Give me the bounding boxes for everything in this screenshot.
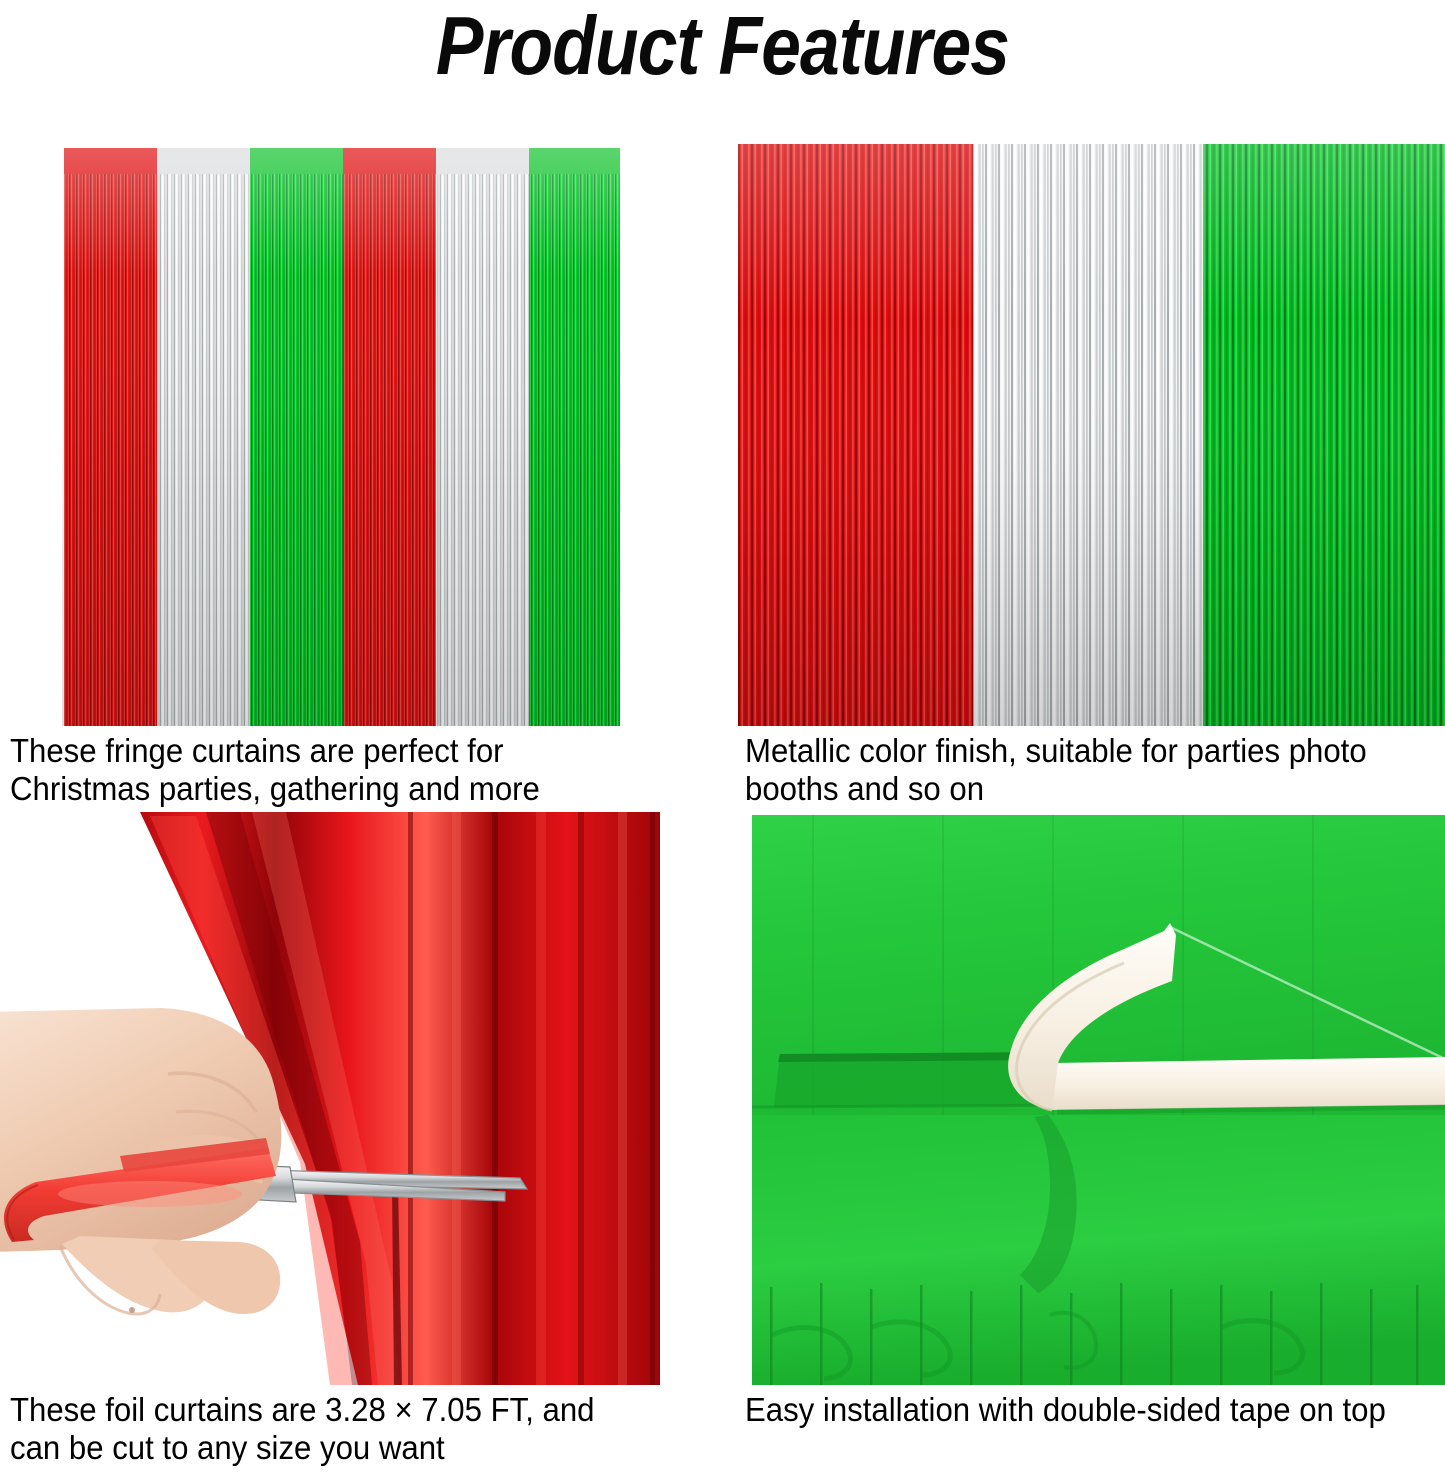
feature-caption: These fringe curtains are perfect for Ch…	[10, 733, 587, 809]
metallic-curtain-photo	[738, 144, 1445, 726]
scissors-cutting-illustration	[0, 812, 660, 1385]
feature-caption: Metallic color finish, suitable for part…	[745, 733, 1405, 809]
tape-installation-illustration	[752, 815, 1445, 1385]
metallic-curtain-illustration	[738, 144, 1445, 726]
page-title: Product Features	[101, 2, 1344, 89]
scissors-cutting-photo	[0, 812, 660, 1385]
feature-caption: Easy installation with double-sided tape…	[745, 1392, 1396, 1430]
feature-caption: These foil curtains are 3.28 × 7.05 FT, …	[10, 1392, 642, 1468]
double-sided-tape-photo	[752, 815, 1445, 1385]
fringe-curtain-illustration	[62, 148, 620, 726]
fringe-curtain-photo	[62, 148, 620, 726]
